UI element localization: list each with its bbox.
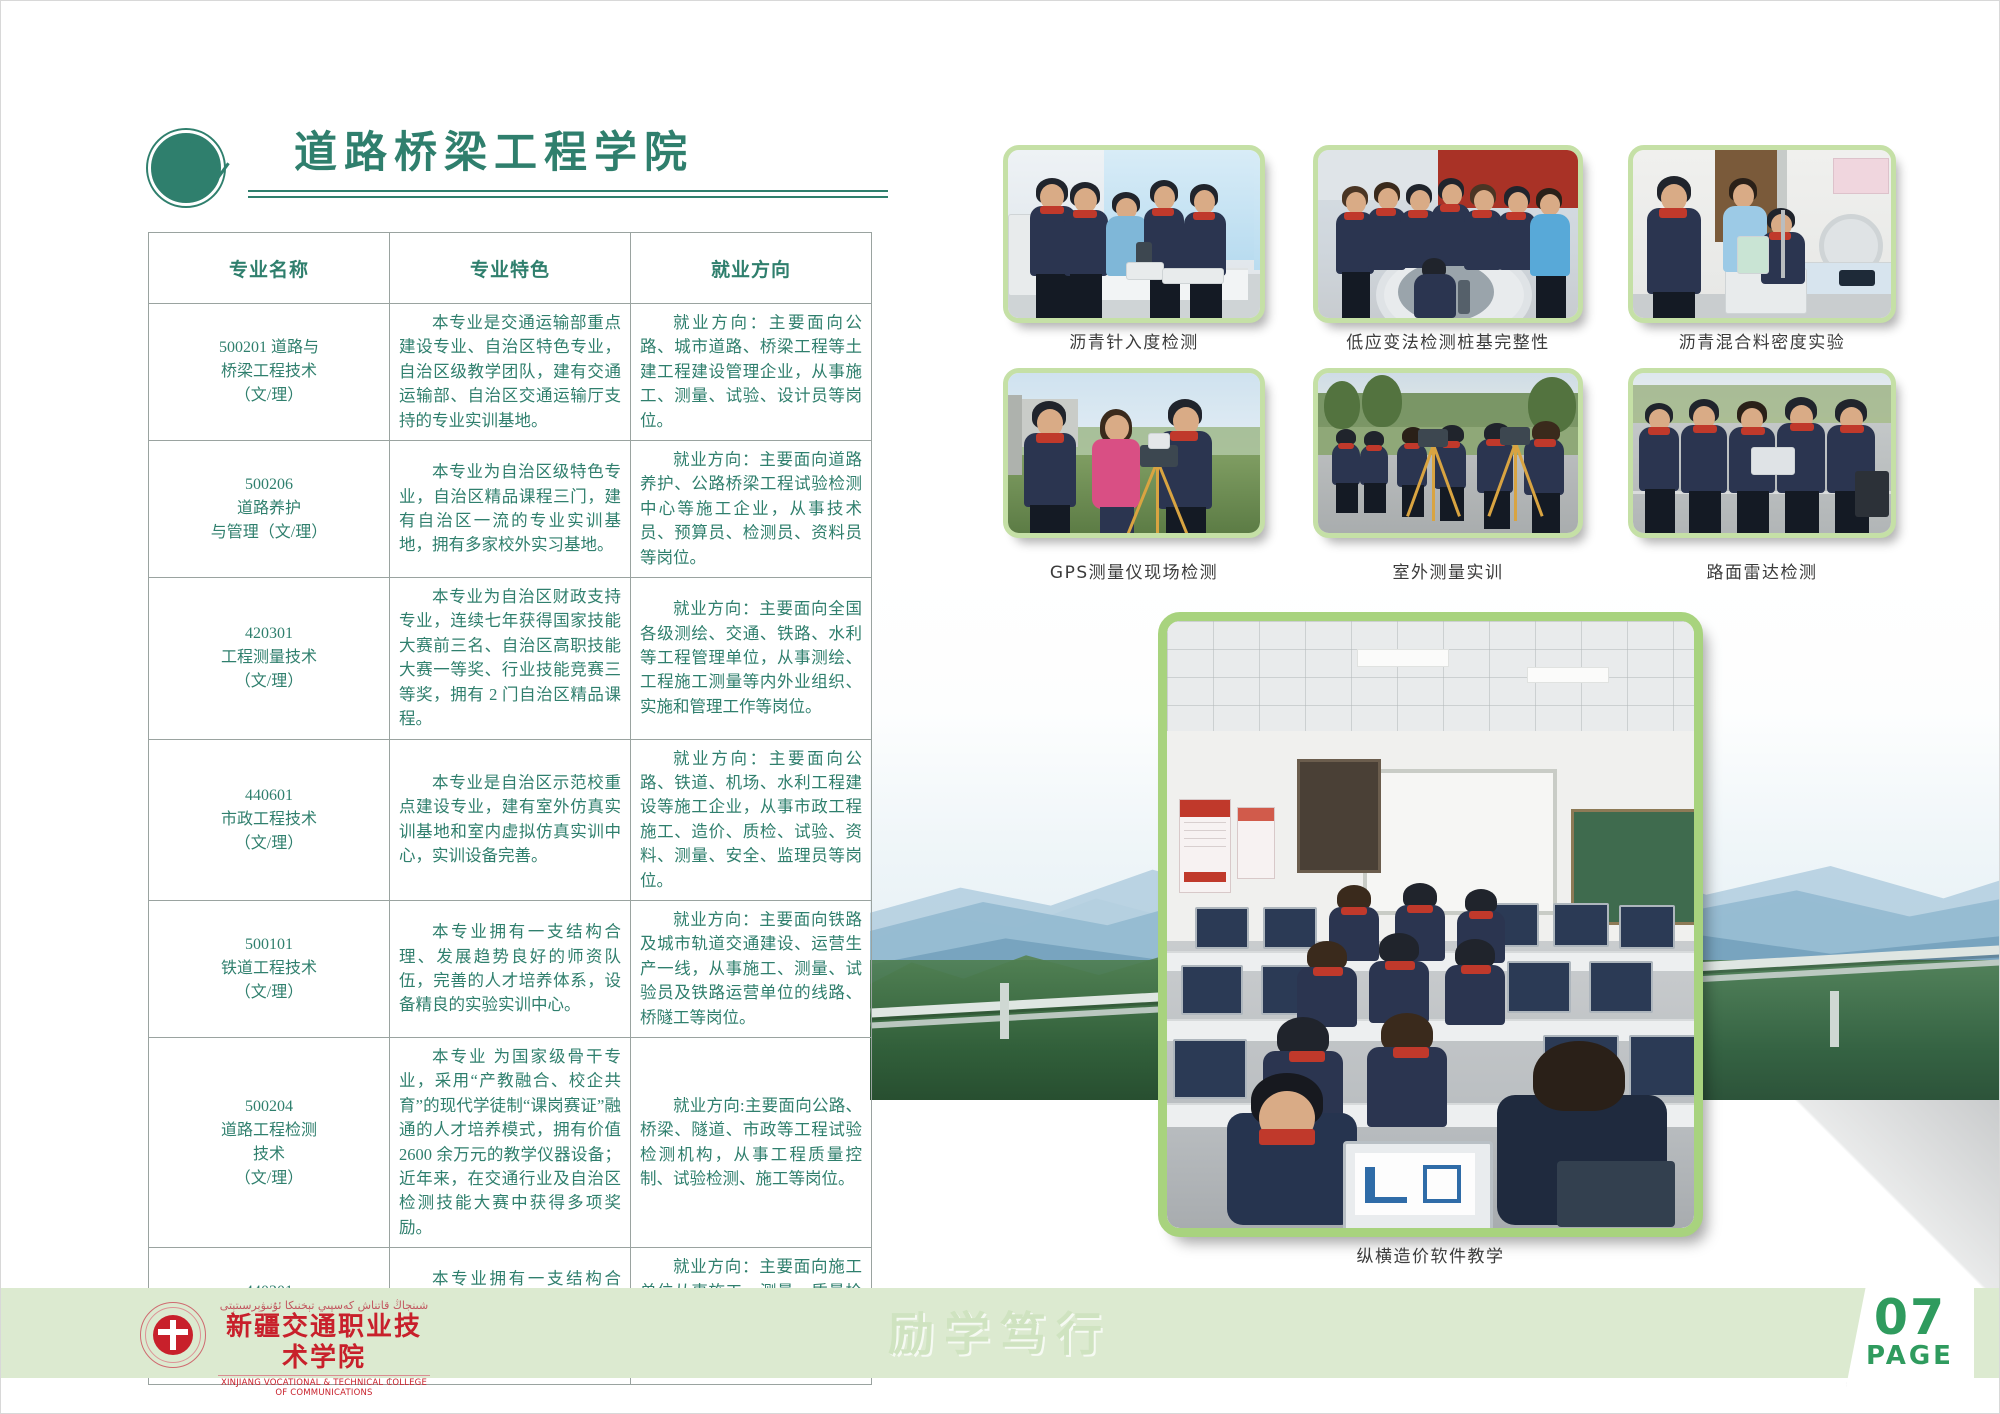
school-logo: شىنجاڭ قاتناش كەسپىي تېخنىكا ئۇنىۋېرسىتې… [140, 1300, 430, 1370]
page-label: PAGE [1846, 1341, 1974, 1371]
header-divider-rule [248, 190, 888, 198]
cell-major-feature: 本专业是自治区示范校重点建设专业，建有室外仿真实训基地和室内虚拟仿真实训中心，实… [390, 739, 631, 900]
cell-major-name: 500101铁道工程技术（文/理） [149, 900, 390, 1037]
photo-cost-software-classroom [1158, 612, 1703, 1237]
col-header-major-feature: 专业特色 [390, 233, 631, 304]
col-header-major-name: 专业名称 [149, 233, 390, 304]
col-header-employment: 就业方向 [631, 233, 872, 304]
photo-caption: 沥青混合料密度实验 [1628, 328, 1896, 353]
logo-english-name: XINJIANG VOCATIONAL & TECHNICAL COLLEGE … [218, 1375, 430, 1398]
table-row: 500201 道路与桥梁工程技术（文/理）本专业是交通运输部重点建设专业、自治区… [149, 304, 872, 441]
cell-major-feature: 本专业为自治区财政支持专业，连续七年获得国家技能大赛前三名、自治区高职技能大赛一… [390, 578, 631, 739]
cell-major-feature: 本专业拥有一支结构合理、发展趋势良好的师资队伍，完善的人才培养体系，设备精良的实… [390, 900, 631, 1037]
photo-low-strain-pile-test [1313, 145, 1583, 323]
cell-major-name: 500206道路养护与管理（文/理） [149, 441, 390, 578]
circle-chevron-icon [148, 130, 220, 202]
photo-outdoor-survey-training [1313, 368, 1583, 538]
school-emblem-icon [140, 1302, 206, 1368]
photo-caption: 沥青针入度检测 [1003, 328, 1265, 353]
logo-uyghur-text: شىنجاڭ قاتناش كەسپىي تېخنىكا ئۇنىۋېرسىتې… [218, 1300, 430, 1312]
cell-major-feature: 本专业 为国家级骨干专业，采用“产教融合、校企共育”的现代学徒制“课岗赛证”融通… [390, 1037, 631, 1247]
cell-major-name: 500201 道路与桥梁工程技术（文/理） [149, 304, 390, 441]
cell-major-name: 500204道路工程检测技术（文/理） [149, 1037, 390, 1247]
table-row: 500101铁道工程技术（文/理）本专业拥有一支结构合理、发展趋势良好的师资队伍… [149, 900, 872, 1037]
cell-major-name: 420301工程测量技术（文/理） [149, 578, 390, 739]
brochure-page: 道路桥梁工程学院 专业名称 专业特色 就业方向 500201 道路与桥梁工程技术… [0, 0, 2000, 1414]
section-header: 道路桥梁工程学院 [148, 118, 888, 218]
photo-gps-survey-field-test [1003, 368, 1265, 538]
page-corner-fold [1770, 1100, 2000, 1290]
page-title: 道路桥梁工程学院 [294, 118, 694, 180]
cell-major-feature: 本专业是交通运输部重点建设专业、自治区特色专业，自治区级教学团队，建有交通运输部… [390, 304, 631, 441]
photo-caption: 室外测量实训 [1313, 558, 1583, 583]
cell-employment: 就业方向：主要面向公路、铁道、机场、水利工程建设等施工企业，从事市政工程施工、造… [631, 739, 872, 900]
big-photo-caption: 纵横造价软件教学 [1158, 1242, 1703, 1267]
photo-caption: 低应变法检测桩基完整性 [1313, 328, 1583, 353]
table-header-row: 专业名称 专业特色 就业方向 [149, 233, 872, 304]
cell-employment: 就业方向：主要面向公路、城市道路、桥梁工程等土建工程建设管理企业，从事施工、测量… [631, 304, 872, 441]
table-row: 420301工程测量技术（文/理）本专业为自治区财政支持专业，连续七年获得国家技… [149, 578, 872, 739]
table-row: 500206道路养护与管理（文/理）本专业为自治区级特色专业，自治区精品课程三门… [149, 441, 872, 578]
table-row: 500204道路工程检测技术（文/理）本专业 为国家级骨干专业，采用“产教融合、… [149, 1037, 872, 1247]
logo-chinese-name: 新疆交通职业技术学院 [218, 1312, 430, 1374]
cell-major-name: 440601市政工程技术（文/理） [149, 739, 390, 900]
photo-asphalt-mixture-density-test [1628, 145, 1896, 323]
cell-employment: 就业方向:主要面向公路、桥梁、隧道、市政等工程试验检测机构，从事工程质量控制、试… [631, 1037, 872, 1247]
cell-employment: 就业方向：主要面向全国各级测绘、交通、铁路、水利等工程管理单位，从事测绘、工程施… [631, 578, 872, 739]
cell-employment: 就业方向：主要面向道路养护、公路桥梁工程试验检测中心等施工企业，从事技术员、预算… [631, 441, 872, 578]
photo-caption: GPS测量仪现场检测 [1003, 558, 1265, 583]
cell-major-feature: 本专业为自治区级特色专业，自治区精品课程三门，建有自治区一流的专业实训基地，拥有… [390, 441, 631, 578]
photo-caption: 路面雷达检测 [1628, 558, 1896, 583]
photo-road-radar-test [1628, 368, 1896, 538]
majors-table: 专业名称 专业特色 就业方向 500201 道路与桥梁工程技术（文/理）本专业是… [148, 232, 872, 1385]
cell-employment: 就业方向：主要面向铁路及城市轨道交通建设、运营生产一线，从事施工、测量、试验员及… [631, 900, 872, 1037]
table-row: 440601市政工程技术（文/理）本专业是自治区示范校重点建设专业，建有室外仿真… [149, 739, 872, 900]
page-number: 07 [1846, 1289, 1974, 1346]
page-number-badge: 07 PAGE [1846, 1283, 1974, 1387]
photo-asphalt-penetration-test [1003, 145, 1265, 323]
